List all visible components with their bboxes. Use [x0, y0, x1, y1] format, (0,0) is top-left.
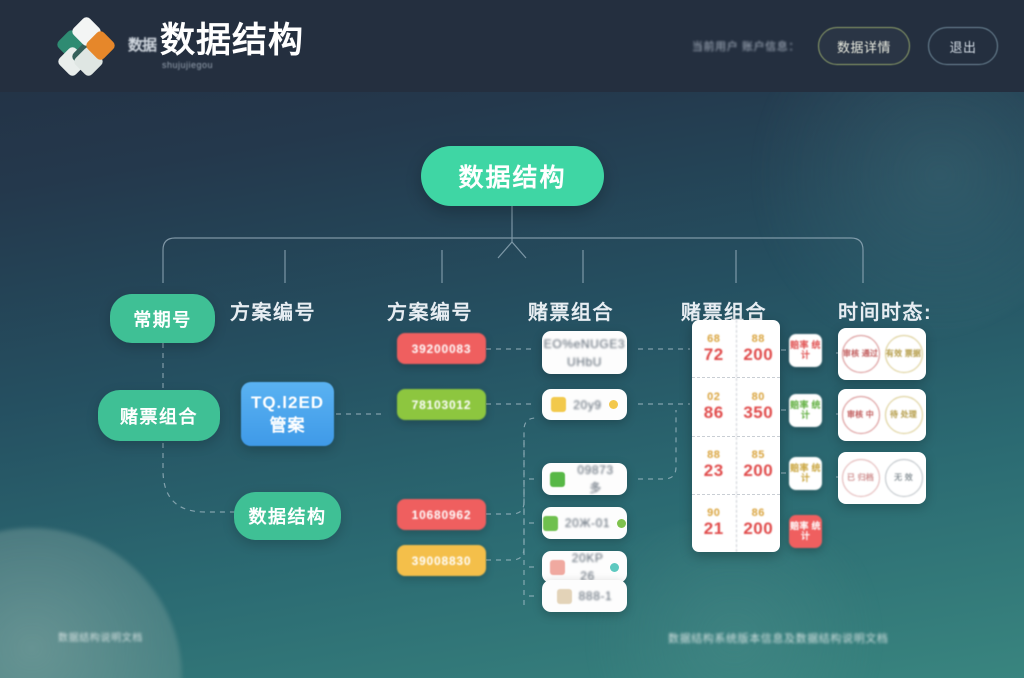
header-actions: 当前用户 账户信息： 数据详情 退出	[692, 27, 998, 65]
node-blue-line1: TQ.l2ED	[251, 392, 324, 413]
white-card-3[interactable]: 09873多	[542, 463, 627, 495]
brand-subtitle-cn: 数据	[128, 38, 156, 53]
code-tag-1[interactable]: 39200083	[397, 333, 486, 364]
number-grid-table[interactable]: 68 72 88 200 02 86 80 350	[692, 320, 780, 552]
stamp-archived-icon: 已 归档	[842, 459, 880, 497]
stamp-reviewing-icon: 审核 中	[842, 396, 880, 434]
table-row: 02 86 80 350	[692, 378, 780, 436]
footer-note-left: 数据结构说明文档	[58, 629, 143, 644]
calendar-icon	[551, 397, 566, 412]
column-header-2: 方案编号	[230, 296, 316, 325]
grid-cell-top: 68	[707, 333, 720, 345]
stamp-pending-icon: 待 处理	[885, 396, 923, 434]
grid-cell-bottom: 200	[743, 519, 773, 539]
box-tan-icon	[557, 589, 572, 604]
card-pink-icon	[550, 560, 565, 575]
code-tag-3[interactable]: 10680962	[397, 499, 486, 530]
grid-cell-bottom: 86	[704, 403, 724, 423]
grid-cell-bottom: 200	[743, 345, 773, 365]
grid-cell: 02 86	[692, 378, 737, 435]
chart-green-icon	[543, 516, 558, 531]
square-tag-4[interactable]: 赔率 统计	[789, 515, 822, 548]
brand-latin-subtitle: shujujiegou	[162, 61, 304, 70]
grid-cell-top: 80	[752, 391, 765, 403]
white-card-6-label: 888-1	[579, 587, 613, 605]
white-card-6[interactable]: 888-1	[542, 580, 627, 612]
column-header-3: 方案编号	[387, 296, 473, 325]
grid-cell: 85 200	[737, 437, 781, 494]
data-detail-button[interactable]: 数据详情	[818, 27, 910, 65]
doc-green-icon	[550, 472, 565, 487]
white-card-2-label: 20у9	[573, 396, 601, 414]
status-dot-cyan-icon	[610, 563, 619, 572]
grid-cell-top: 88	[707, 449, 720, 461]
header-account-note: 当前用户 账户信息：	[692, 38, 800, 54]
app-stage: 数据 数据结构 shujujiegou 当前用户 账户信息： 数据详情 退出	[0, 0, 1024, 678]
stamp-approved-icon: 审核 通过	[842, 335, 880, 373]
table-row: 90 21 86 200	[692, 495, 780, 552]
grid-cell-bottom: 200	[743, 461, 773, 481]
code-tag-4[interactable]: 39008830	[397, 545, 486, 576]
root-node[interactable]: 数据结构	[421, 146, 604, 206]
column-header-4: 赌票组合	[528, 296, 614, 325]
footer-note-right: 数据结构系统版本信息及数据结构说明文档	[668, 630, 888, 646]
grid-cell: 90 21	[692, 495, 737, 552]
stamp-card-2[interactable]: 审核 中 待 处理	[838, 389, 926, 441]
grid-cell-top: 02	[707, 391, 720, 403]
grid-cell-top: 85	[752, 449, 765, 461]
node-left-3[interactable]: 数据结构	[234, 492, 341, 540]
node-blue-line2: 管案	[270, 415, 306, 436]
grid-cell: 80 350	[737, 378, 781, 435]
grid-cell: 88 200	[737, 320, 781, 377]
column-header-6: 时间时态:	[838, 296, 932, 325]
table-row: 88 23 85 200	[692, 437, 780, 495]
white-card-5[interactable]: 20KP 26	[542, 551, 627, 583]
grid-cell: 88 23	[692, 437, 737, 494]
white-card-1[interactable]: EO%eNUGE3 UHbU	[542, 331, 627, 374]
status-dot-green-icon	[617, 519, 626, 528]
table-row: 68 72 88 200	[692, 320, 780, 378]
stamp-invalid-icon: 无 效	[885, 459, 923, 497]
grid-cell-bottom: 23	[704, 461, 724, 481]
grid-cell-top: 88	[752, 333, 765, 345]
grid-cell: 86 200	[737, 495, 781, 552]
brand-logo[interactable]: 数据 数据结构 shujujiegou	[58, 19, 304, 73]
node-left-2[interactable]: 赌票组合	[98, 390, 220, 441]
grid-cell-top: 90	[707, 507, 720, 519]
grid-cell-top: 86	[752, 507, 765, 519]
brand-title: 数据结构	[160, 23, 304, 58]
stamp-card-1[interactable]: 审核 通过 有效 票据	[838, 328, 926, 380]
stamp-card-3[interactable]: 已 归档 无 效	[838, 452, 926, 504]
logo-diamond-icon	[58, 19, 116, 73]
status-dot-yellow-icon	[609, 400, 618, 409]
grid-cell-bottom: 350	[743, 403, 773, 423]
node-left-1[interactable]: 常期号	[110, 294, 215, 343]
white-card-1-line2: UHbU	[544, 353, 625, 371]
square-tag-2[interactable]: 赔率 统计	[789, 394, 822, 427]
app-header: 数据 数据结构 shujujiegou 当前用户 账户信息： 数据详情 退出	[0, 0, 1024, 92]
node-blue-plan[interactable]: TQ.l2ED 管案	[241, 382, 334, 446]
stamp-valid-icon: 有效 票据	[885, 335, 923, 373]
grid-cell-bottom: 21	[704, 519, 724, 539]
code-tag-2[interactable]: 78103012	[397, 389, 486, 420]
white-card-4[interactable]: 20Ж-01	[542, 507, 627, 539]
mindmap-canvas: 数据结构 方案编号 方案编号 赌票组合 赌票组合 时间时态: 常期号 赌票组合 …	[0, 0, 1024, 678]
grid-cell: 68 72	[692, 320, 737, 377]
square-tag-1[interactable]: 赔率 统计	[789, 334, 822, 367]
white-card-2[interactable]: 20у9	[542, 389, 627, 420]
brand-text: 数据 数据结构 shujujiegou	[128, 23, 304, 70]
grid-cell-bottom: 72	[704, 345, 724, 365]
logout-button[interactable]: 退出	[928, 27, 998, 65]
square-tag-3[interactable]: 赔率 统计	[789, 457, 822, 490]
white-card-3-label: 09873多	[572, 461, 619, 497]
white-card-4-label: 20Ж-01	[565, 514, 610, 532]
white-card-1-line1: EO%eNUGE3	[544, 335, 625, 353]
